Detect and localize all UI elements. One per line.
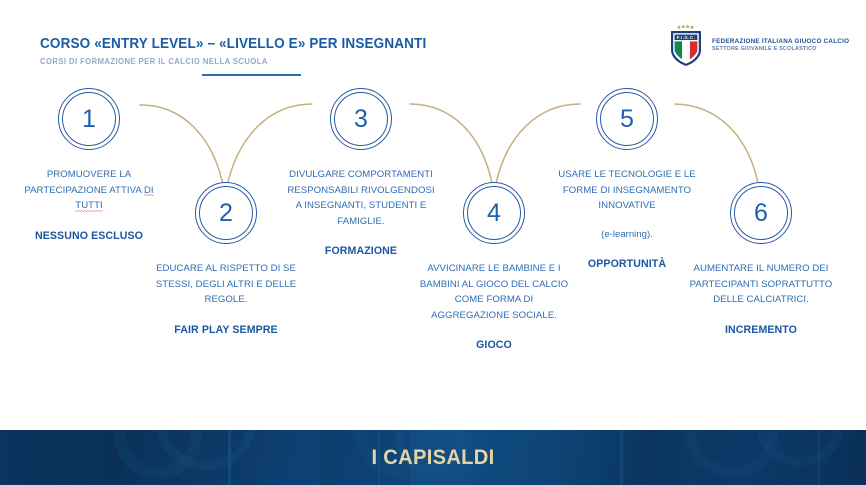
step-column-6: 6 AUMENTARE IL NUMERO DEI PARTECIPANTI S… xyxy=(686,182,836,339)
step-number-5: 5 xyxy=(620,107,634,132)
figc-logo-line-1: FEDERAZIONE ITALIANA GIUOCO CALCIO xyxy=(712,38,849,46)
step-body-4: AVVICINARE LE BAMBINE E I BAMBINI AL GIO… xyxy=(419,261,569,323)
step-circle-5: 5 xyxy=(596,88,658,150)
step-keyword-3: FORMAZIONE xyxy=(286,243,436,260)
footer-band: I CAPISALDI xyxy=(0,430,866,485)
step-column-3: 3 DIVULGARE COMPORTAMENTI RESPONSABILI R… xyxy=(286,88,436,260)
step-column-4: 4 AVVICINARE LE BAMBINE E I BAMBINI AL G… xyxy=(419,182,569,354)
step-circle-2: 2 xyxy=(195,182,257,244)
step-circle-6: 6 xyxy=(730,182,792,244)
step-number-4: 4 xyxy=(487,201,501,226)
svg-text:F.I.G.C.: F.I.G.C. xyxy=(677,35,696,40)
step-circle-3: 3 xyxy=(330,88,392,150)
step-note-5: (e-learning). xyxy=(552,227,702,242)
step-number-1: 1 xyxy=(82,107,96,132)
step-number-3: 3 xyxy=(354,107,368,132)
step-number-2: 2 xyxy=(219,201,233,226)
step-body-5: USARE LE TECNOLOGIE E LE FORME DI INSEGN… xyxy=(552,167,702,214)
figc-logo-text: FEDERAZIONE ITALIANA GIUOCO CALCIO SETTO… xyxy=(712,38,849,53)
figc-shield-icon: F.I.G.C. xyxy=(667,23,705,67)
page-title: CORSO «ENTRY LEVEL» – «LIVELLO E» PER IN… xyxy=(40,36,426,52)
step-column-5: 5 USARE LE TECNOLOGIE E LE FORME DI INSE… xyxy=(552,88,702,273)
step-body-6: AUMENTARE IL NUMERO DEI PARTECIPANTI SOP… xyxy=(686,261,836,308)
page-subtitle: CORSI DI FORMAZIONE PER IL CALCIO NELLA … xyxy=(40,57,268,66)
step-keyword-2: FAIR PLAY SEMPRE xyxy=(151,322,301,339)
step-keyword-1: NESSUNO ESCLUSO xyxy=(14,228,164,245)
slide-canvas: CORSO «ENTRY LEVEL» – «LIVELLO E» PER IN… xyxy=(0,0,866,485)
step-column-1: 1 PROMUOVERE LA PARTECIPAZIONE ATTIVA DI… xyxy=(14,88,164,245)
step-keyword-4: GIOCO xyxy=(419,337,569,354)
step-body-text-1: PROMUOVERE LA PARTECIPAZIONE ATTIVA xyxy=(24,169,144,196)
step-keyword-5: OPPORTUNITÀ xyxy=(552,256,702,273)
step-column-2: 2 EDUCARE AL RISPETTO DI SE STESSI, DEGL… xyxy=(151,182,301,339)
shield-stars-group xyxy=(677,25,694,29)
title-underline-rule xyxy=(202,74,301,76)
step-body-2: EDUCARE AL RISPETTO DI SE STESSI, DEGLI … xyxy=(151,261,301,308)
figc-logo-block: F.I.G.C. FEDERAZIONE ITALIANA GIUOCO CAL… xyxy=(667,23,849,67)
step-keyword-6: INCREMENTO xyxy=(686,322,836,339)
step-circle-4: 4 xyxy=(463,182,525,244)
step-circle-1: 1 xyxy=(58,88,120,150)
step-body-3: DIVULGARE COMPORTAMENTI RESPONSABILI RIV… xyxy=(286,167,436,229)
footer-title: I CAPISALDI xyxy=(17,430,848,485)
step-body-1: PROMUOVERE LA PARTECIPAZIONE ATTIVA DI T… xyxy=(14,167,164,214)
figc-logo-line-2: SETTORE GIOVANILE E SCOLASTICO xyxy=(712,46,849,53)
step-number-6: 6 xyxy=(754,201,768,226)
